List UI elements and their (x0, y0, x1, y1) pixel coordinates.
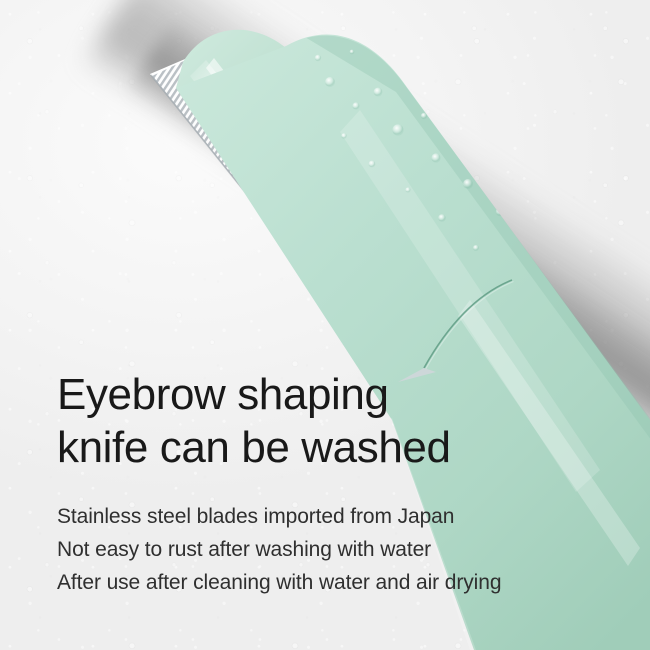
headline-line-2: knife can be washed (57, 421, 617, 474)
product-marketing-image: Eyebrow shaping knife can be washed Stai… (0, 0, 650, 650)
marketing-copy: Eyebrow shaping knife can be washed Stai… (57, 368, 617, 599)
feature-item: Stainless steel blades imported from Jap… (57, 500, 617, 533)
feature-item: Not easy to rust after washing with wate… (57, 533, 617, 566)
feature-list: Stainless steel blades imported from Jap… (57, 500, 617, 599)
feature-item: After use after cleaning with water and … (57, 566, 617, 599)
headline-line-1: Eyebrow shaping (57, 368, 617, 421)
